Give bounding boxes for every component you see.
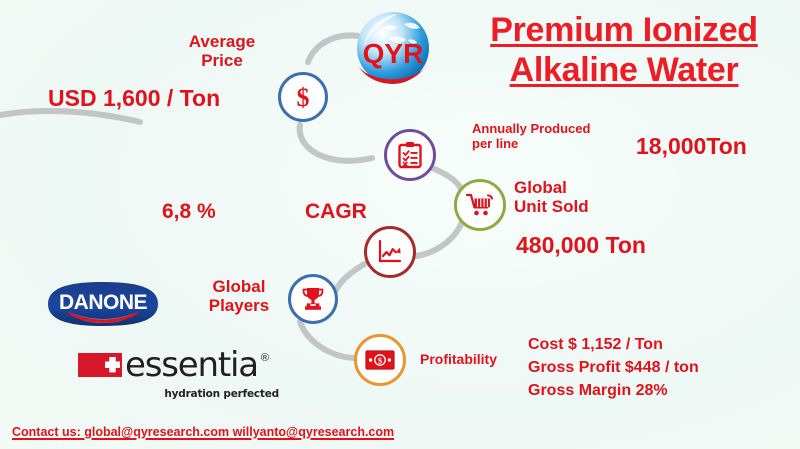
essentia-logo-text: essentia (125, 348, 258, 382)
banknote-icon: $ (365, 350, 395, 370)
clipboard-checklist-icon (397, 141, 423, 169)
page-title: Premium Ionized Alkaline Water (452, 10, 796, 90)
node-cagr[interactable] (364, 226, 416, 278)
svg-text:$: $ (378, 356, 383, 366)
global-unit-sold-label: Global Unit Sold (514, 178, 589, 216)
danone-logo: DANONE (40, 281, 166, 327)
profitability-label: Profitability (420, 352, 497, 368)
global-unit-sold-value: 480,000 Ton (516, 233, 646, 259)
node-average-price[interactable]: $ (278, 72, 328, 122)
contact-footer[interactable]: Contact us: global@qyresearch.com willya… (12, 425, 394, 439)
node-global-players[interactable] (288, 274, 338, 324)
svg-text:$: $ (297, 83, 310, 112)
cagr-label: CAGR (305, 200, 367, 224)
trophy-icon (300, 286, 326, 312)
global-players-label: Global Players (196, 277, 282, 315)
essentia-plus-icon (78, 350, 122, 380)
node-global-unit-sold[interactable] (454, 179, 506, 231)
annual-production-value: 18,000Ton (636, 134, 747, 160)
node-annual-production[interactable] (384, 129, 436, 181)
dollar-sign-icon: $ (290, 82, 316, 112)
shopping-cart-icon (466, 192, 494, 218)
registered-mark: ® (261, 352, 269, 364)
title-line-1: Premium Ionized (452, 10, 796, 50)
average-price-value: USD 1,600 / Ton (48, 86, 220, 112)
cagr-value: 6,8 % (162, 200, 216, 224)
essentia-tagline: hydration perfected (164, 388, 279, 400)
danone-logo-text: DANONE (59, 291, 147, 314)
qyr-logo-text: QYR (363, 38, 424, 69)
line-chart-icon (377, 239, 403, 265)
infographic-page: QYR Premium Ionized Alkaline Water $ Ave… (0, 0, 800, 449)
title-line-2: Alkaline Water (452, 50, 796, 90)
average-price-label: Average Price (168, 32, 276, 70)
essentia-logo: essentia ® hydration perfected (78, 348, 283, 398)
qyr-globe-logo: QYR (352, 8, 434, 90)
node-profitability[interactable]: $ (354, 334, 406, 386)
annual-production-label: Annually Produced per line (472, 122, 590, 151)
profitability-value: Cost $ 1,152 / Ton Gross Profit $448 / t… (528, 333, 699, 403)
